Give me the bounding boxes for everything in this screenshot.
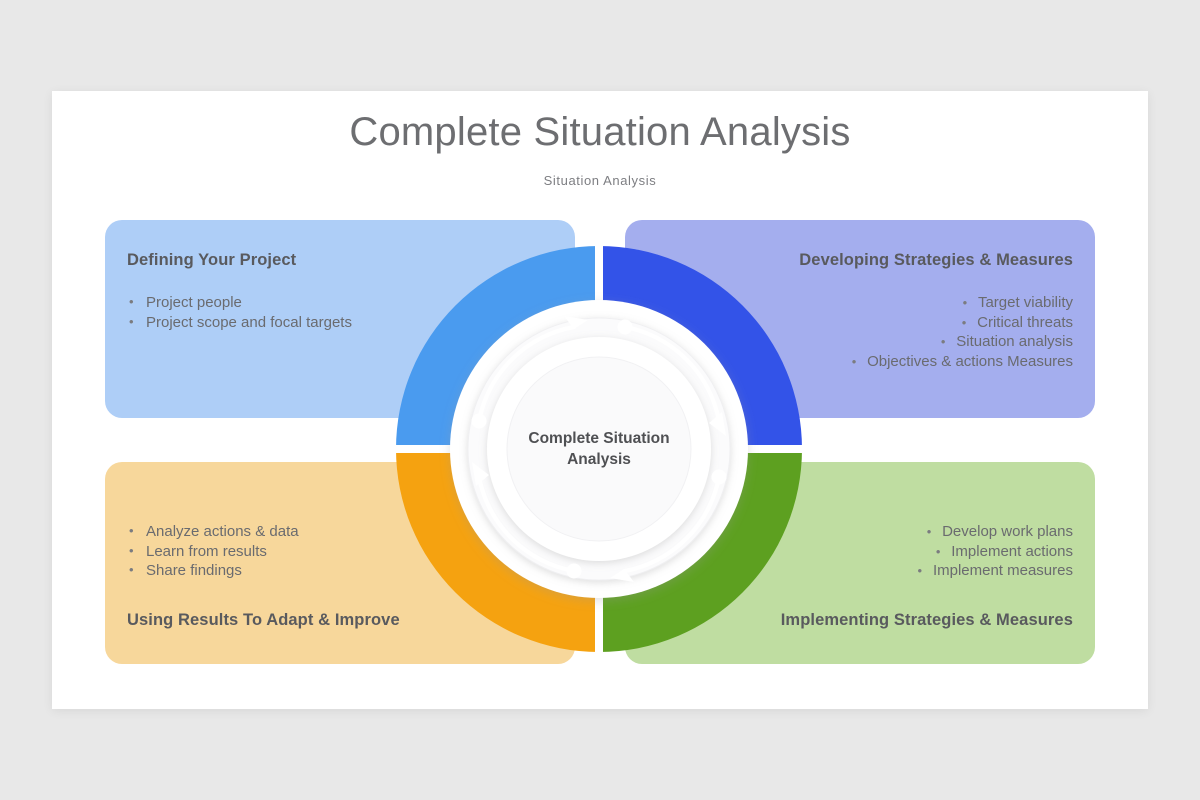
list-item: Develop work plans (918, 522, 1073, 542)
quadrant-heading: Defining Your Project (127, 251, 296, 270)
list-item: Project people (125, 293, 352, 313)
slide-canvas: Complete Situation Analysis Situation An… (0, 0, 1200, 800)
page-subtitle: Situation Analysis (52, 173, 1148, 188)
quadrant-bullet-list: Analyze actions & data Learn from result… (125, 522, 299, 581)
list-item: Implement actions (918, 542, 1073, 562)
list-item: Implement measures (918, 561, 1073, 581)
quadrant-heading: Implementing Strategies & Measures (781, 611, 1073, 630)
cycle-wheel (396, 246, 802, 652)
list-item: Target viability (852, 293, 1073, 313)
list-item: Analyze actions & data (125, 522, 299, 542)
list-item: Situation analysis (852, 332, 1073, 352)
list-item: Objectives & actions Measures (852, 352, 1073, 372)
page-title: Complete Situation Analysis (52, 110, 1148, 155)
quadrant-bullet-list: Develop work plans Implement actions Imp… (918, 522, 1073, 581)
quadrant-bullet-list: Project people Project scope and focal t… (125, 293, 352, 332)
list-item: Critical threats (852, 313, 1073, 333)
list-item: Share findings (125, 561, 299, 581)
quadrant-heading: Developing Strategies & Measures (799, 251, 1073, 270)
list-item: Learn from results (125, 542, 299, 562)
list-item: Project scope and focal targets (125, 313, 352, 333)
slide: Complete Situation Analysis Situation An… (52, 91, 1148, 709)
quadrant-heading: Using Results To Adapt & Improve (127, 611, 400, 630)
quadrant-bullet-list: Target viability Critical threats Situat… (852, 293, 1073, 371)
